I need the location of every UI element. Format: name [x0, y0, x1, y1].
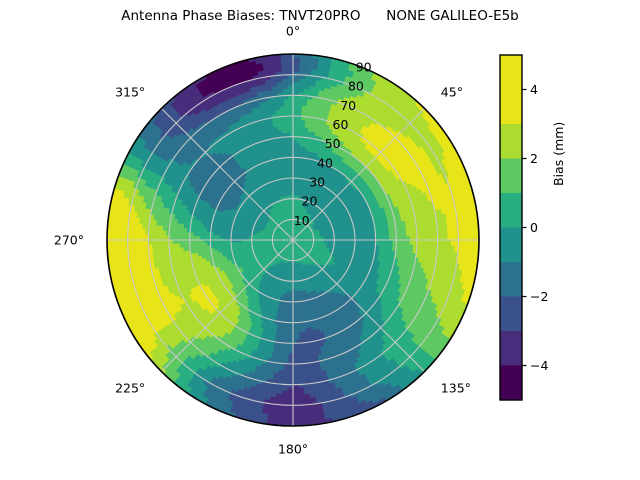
colorbar-band: [500, 124, 522, 159]
angular-tick-label: 45°: [441, 85, 463, 100]
colorbar-tick-label: 2: [530, 151, 538, 166]
colorbar-band: [500, 193, 522, 228]
polar-contour-plot: 0°45°90135°180°225°270°315° 102030405060…: [0, 0, 500, 480]
angular-tick-label: 225°: [115, 380, 145, 395]
colorbar-band: [500, 262, 522, 297]
polar-grid: [107, 54, 479, 426]
colorbar: 420−2−4: [490, 0, 640, 480]
colorbar-ticks: 420−2−4: [522, 82, 548, 373]
colorbar-tick-label: 4: [530, 82, 538, 97]
angular-tick-label: 0°: [286, 24, 300, 39]
radial-tick-label: 20: [302, 194, 318, 209]
radial-tick-label: 60: [333, 117, 349, 132]
angular-tick-label: 135°: [441, 380, 471, 395]
angular-tick-label: 270°: [54, 233, 84, 248]
angular-tick-label: 315°: [115, 85, 145, 100]
colorbar-band: [500, 297, 522, 332]
colorbar-tick-label: −4: [530, 358, 548, 373]
radial-tick-label: 50: [325, 136, 341, 151]
radial-tick-label: 10: [294, 213, 310, 228]
radial-tick-label: 80: [348, 79, 364, 94]
radial-tick-label: 70: [340, 98, 356, 113]
colorbar-axis-label: Bias (mm): [551, 122, 566, 186]
colorbar-bands: [500, 55, 522, 400]
radial-tick-label: 90: [356, 60, 372, 75]
angular-tick-label: 180°: [278, 442, 308, 457]
radial-tick-label: 40: [317, 155, 333, 170]
figure-canvas: Antenna Phase Biases: TNVT20PRO NONE GAL…: [0, 0, 640, 480]
colorbar-band: [500, 55, 522, 90]
colorbar-tick-label: 0: [530, 220, 538, 235]
colorbar-band: [500, 90, 522, 125]
colorbar-tick-label: −2: [530, 289, 548, 304]
colorbar-band: [500, 331, 522, 366]
colorbar-band: [500, 228, 522, 263]
colorbar-band: [500, 159, 522, 194]
colorbar-band: [500, 366, 522, 401]
radial-tick-label: 30: [309, 175, 325, 190]
